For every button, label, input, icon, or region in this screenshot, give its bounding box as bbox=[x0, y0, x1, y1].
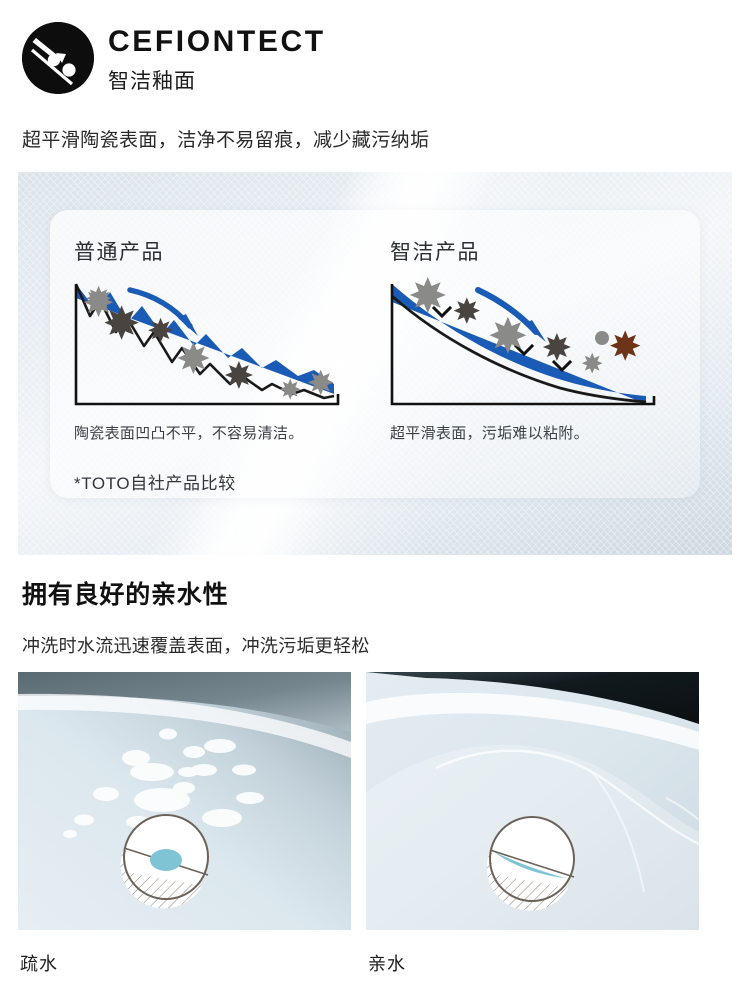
brand-header: CEFIONTECT 智洁釉面 bbox=[22, 22, 326, 95]
smooth-surface-dirt-diagram bbox=[382, 276, 682, 414]
photo-label-hydrophobic: 疏水 bbox=[20, 950, 58, 976]
water-beading-photo bbox=[18, 672, 351, 930]
photo-label-hydrophilic: 亲水 bbox=[368, 950, 406, 976]
comparison-column-ordinary: 普通产品 bbox=[66, 210, 376, 498]
column-caption-ordinary: 陶瓷表面凹凸不平，不容易清洁。 bbox=[74, 422, 304, 443]
brand-name: CEFIONTECT bbox=[108, 26, 326, 58]
product-feature-page: CEFIONTECT 智洁釉面 超平滑陶瓷表面，洁净不易留痕，减少藏污纳垢 普通… bbox=[0, 0, 750, 1000]
comparison-footnote: *TOTO自社产品比较 bbox=[74, 469, 236, 494]
comparison-card: 普通产品 bbox=[50, 210, 700, 498]
rough-surface-dirt-diagram bbox=[66, 276, 366, 414]
column-caption-cefiontect: 超平滑表面，污垢难以粘附。 bbox=[390, 422, 589, 443]
brand-subtitle: 智洁釉面 bbox=[108, 65, 326, 95]
water-sheeting-photo bbox=[366, 672, 699, 930]
comparison-panel: 普通产品 bbox=[18, 172, 732, 555]
column-title-cefiontect: 智洁产品 bbox=[390, 236, 480, 266]
droplet-contact-angle-low-icon bbox=[487, 817, 574, 911]
page-lede: 超平滑陶瓷表面，洁净不易留痕，减少藏污纳垢 bbox=[22, 125, 429, 152]
comparison-column-cefiontect: 智洁产品 bbox=[382, 210, 692, 498]
hydrophilic-heading: 拥有良好的亲水性 bbox=[22, 575, 228, 611]
column-title-ordinary: 普通产品 bbox=[74, 236, 164, 266]
brand-text-block: CEFIONTECT 智洁釉面 bbox=[108, 22, 326, 95]
cefiontect-droplet-repel-icon bbox=[22, 22, 94, 94]
dirt-particle bbox=[86, 286, 111, 311]
hydrophilic-subheading: 冲洗时水流迅速覆盖表面，冲洗污垢更轻松 bbox=[22, 632, 370, 658]
droplet-contact-angle-high-icon bbox=[121, 815, 208, 908]
